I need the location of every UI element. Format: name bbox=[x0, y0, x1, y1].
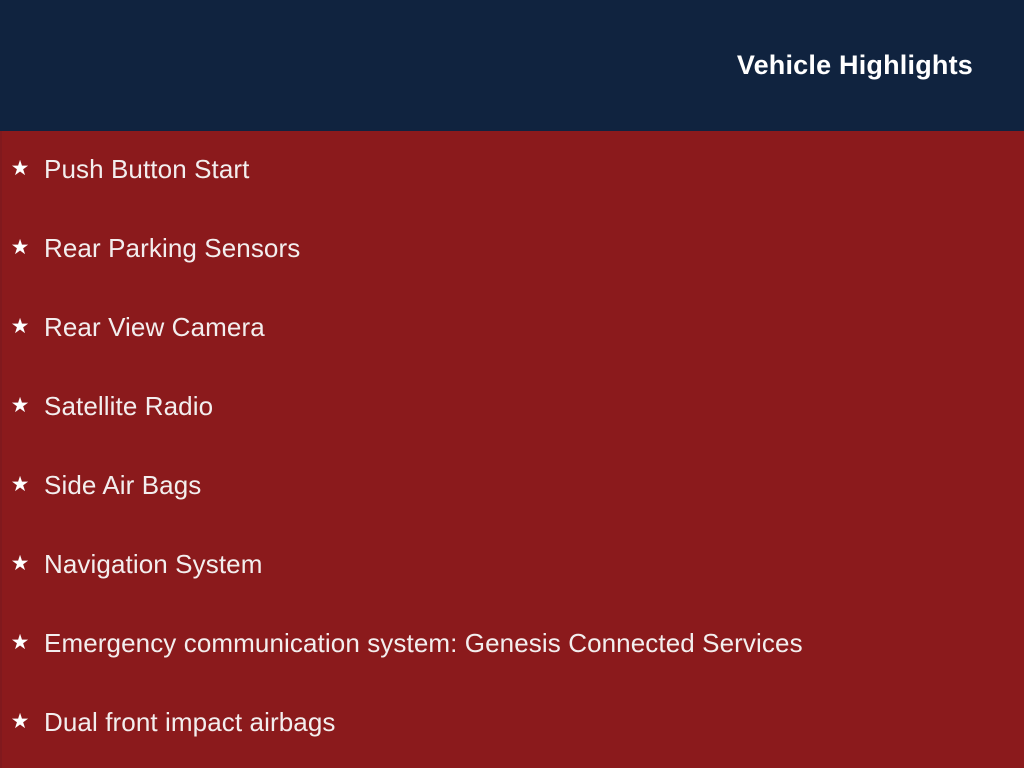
star-icon: ★ bbox=[3, 395, 37, 416]
list-item-label: Rear View Camera bbox=[44, 313, 265, 342]
list-item-label: Navigation System bbox=[44, 550, 262, 579]
star-icon: ★ bbox=[3, 316, 37, 337]
vehicle-highlights-slide: Vehicle Highlights ★ Push Button Start ★… bbox=[0, 0, 1024, 768]
list-item-label: Emergency communication system: Genesis … bbox=[44, 629, 803, 658]
star-icon: ★ bbox=[3, 632, 37, 653]
star-icon: ★ bbox=[3, 237, 37, 258]
star-icon: ★ bbox=[3, 553, 37, 574]
page-title: Vehicle Highlights bbox=[737, 52, 973, 79]
list-item: ★ Emergency communication system: Genesi… bbox=[0, 623, 1024, 663]
list-item: ★ Satellite Radio bbox=[0, 386, 1024, 426]
list-item: ★ Side Air Bags bbox=[0, 465, 1024, 505]
list-item-label: Push Button Start bbox=[44, 155, 250, 184]
list-item: ★ Rear View Camera bbox=[0, 307, 1024, 347]
list-item-label: Satellite Radio bbox=[44, 392, 213, 421]
list-item-label: Dual front impact airbags bbox=[44, 708, 336, 737]
star-icon: ★ bbox=[3, 711, 37, 732]
header-band: Vehicle Highlights bbox=[0, 0, 1024, 131]
list-item: ★ Push Button Start bbox=[0, 149, 1024, 189]
list-item-label: Side Air Bags bbox=[44, 471, 201, 500]
vehicle-highlights-list: ★ Push Button Start ★ Rear Parking Senso… bbox=[0, 131, 1024, 768]
list-item: ★ Navigation System bbox=[0, 544, 1024, 584]
list-item: ★ Rear Parking Sensors bbox=[0, 228, 1024, 268]
star-icon: ★ bbox=[3, 158, 37, 179]
list-item: ★ Dual front impact airbags bbox=[0, 702, 1024, 742]
star-icon: ★ bbox=[3, 474, 37, 495]
list-item-label: Rear Parking Sensors bbox=[44, 234, 300, 263]
